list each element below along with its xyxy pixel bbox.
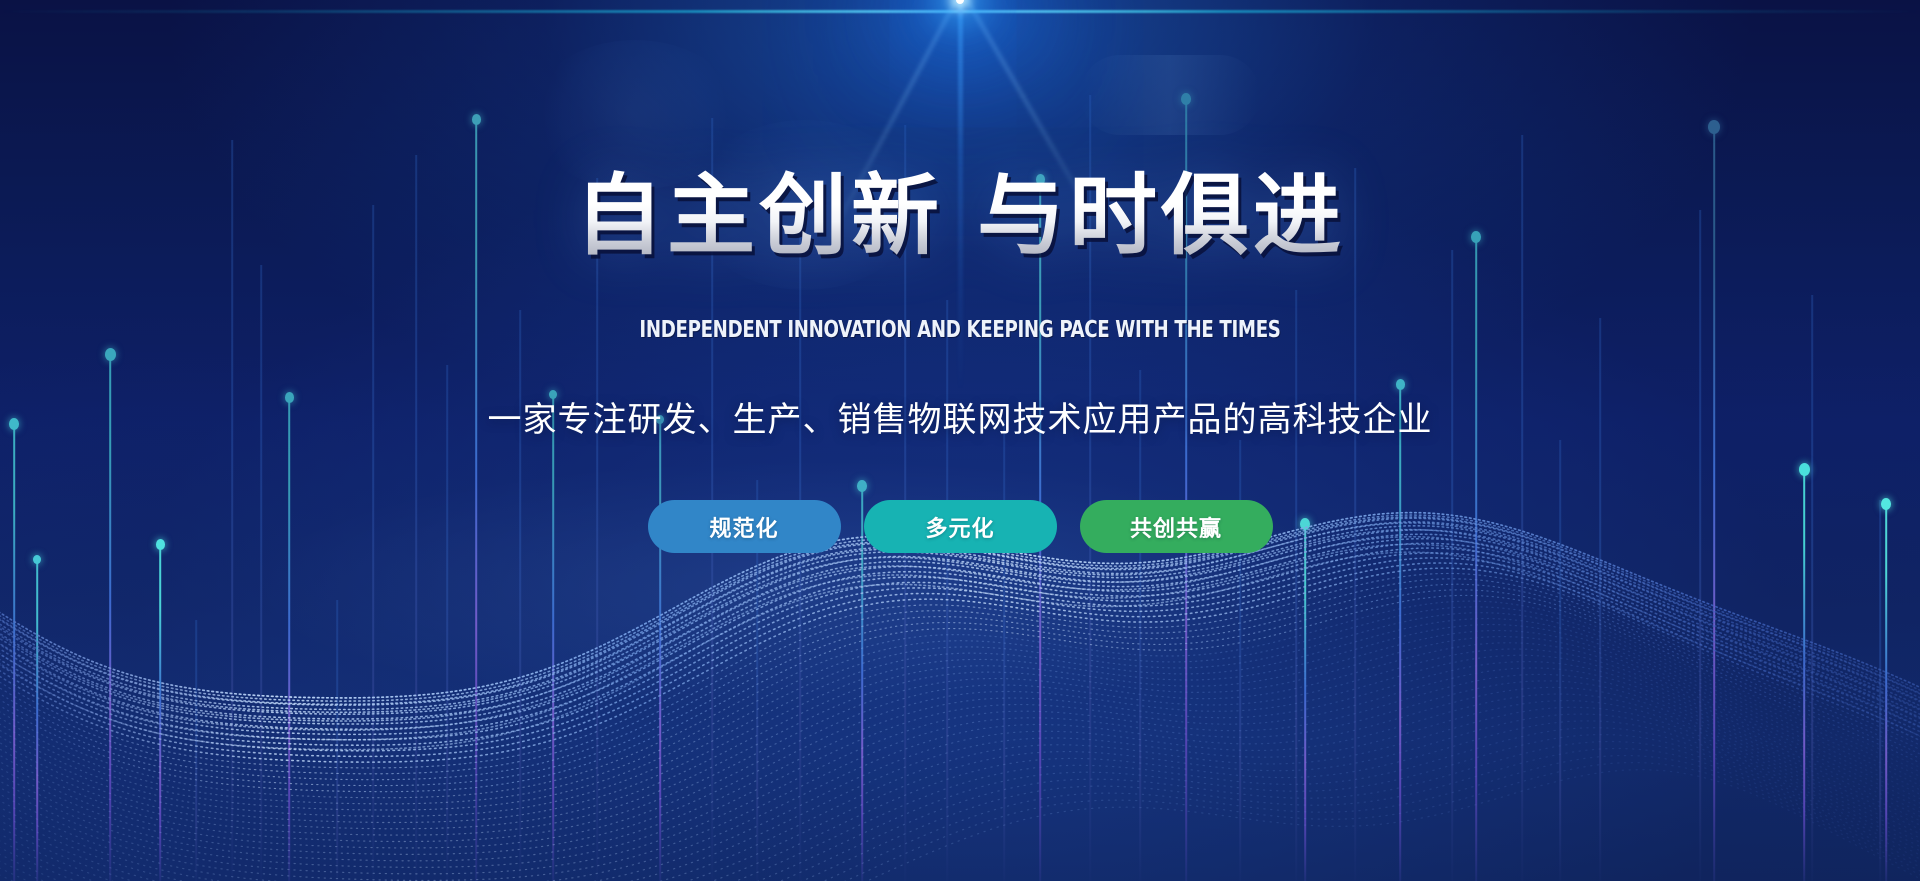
keyword-pill-label: 多元化 [925,511,994,543]
hero-banner: 自主创新与时俱进 INDEPENDENT INNOVATION AND KEEP… [0,0,1920,881]
keyword-pill-3[interactable]: 共创共赢 [1080,500,1273,553]
page-title: 自主创新与时俱进 [0,168,1920,263]
keyword-pill-label: 共创共赢 [1130,511,1222,543]
page-title-part-2: 与时俱进 [977,164,1345,267]
page-title-part-1: 自主创新 [575,164,943,267]
keyword-pill-2[interactable]: 多元化 [864,500,1057,553]
keyword-pill-group: 规范化多元化共创共赢 [0,500,1920,553]
keyword-pill-1[interactable]: 规范化 [648,500,841,553]
keyword-pill-label: 规范化 [709,511,778,543]
english-subtitle: INDEPENDENT INNOVATION AND KEEPING PACE … [115,317,1805,343]
hero-content: 自主创新与时俱进 INDEPENDENT INNOVATION AND KEEP… [0,0,1920,881]
company-tagline: 一家专注研发、生产、销售物联网技术应用产品的高科技企业 [0,392,1920,441]
